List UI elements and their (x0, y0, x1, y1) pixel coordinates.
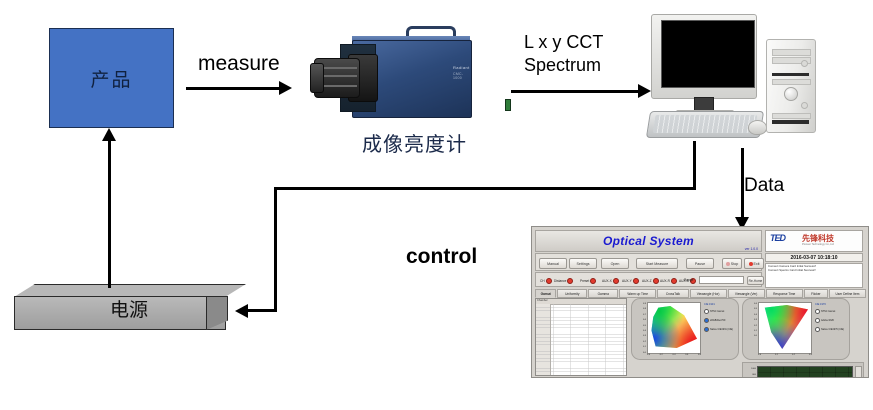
tab-gamut[interactable]: Gamut (535, 289, 556, 298)
software-titlebar: Optical System ver 1.0.0 (535, 230, 762, 252)
status-ch-label: CH (540, 279, 545, 283)
led-icon (653, 278, 659, 284)
manual-button[interactable]: Manual (539, 258, 567, 269)
legend-item[interactable]: Native CIE1931 (CIE) (704, 327, 737, 332)
tab-flicker[interactable]: Flicker (804, 289, 828, 298)
workflow-diagram: 产品 measure Radiant CMC-1000 成像亮度计 L x y … (0, 0, 873, 410)
control-line-h1 (274, 187, 696, 190)
spectrum-plot[interactable] (757, 366, 853, 378)
spectrum-panel: 1000800 600400 2000 380430 480530 580630… (742, 362, 864, 378)
signal-arrow-shaft (511, 90, 639, 93)
software-version: ver 1.0.0 (745, 247, 758, 251)
tab-user-define-item[interactable]: User Define Item (829, 289, 866, 298)
tab-viewangle-ver[interactable]: Viewangle (Ver) (728, 289, 765, 298)
status-ch: CH (540, 278, 552, 284)
power-supply-label: 电源 (110, 295, 148, 322)
camera-lens-hood (310, 63, 324, 93)
status-distance: Distance (554, 278, 573, 284)
open-button[interactable]: Open (601, 258, 629, 269)
legend-item[interactable]: NTSC Gamut (815, 309, 848, 314)
led-icon (613, 278, 619, 284)
exit-icon (749, 262, 753, 266)
radio-icon (704, 318, 709, 323)
power-arrow-shaft (108, 140, 111, 288)
cie1931-legend: CIE 1931 NTSC Gamut sRGB/Rec709 Native C… (704, 303, 737, 357)
cie1976-title: CIE 1976 (815, 303, 848, 306)
tab-uniformity[interactable]: Uniformity (557, 289, 587, 298)
camera-model-label: CMC-1000 (453, 72, 471, 80)
measure-arrow-label: measure (198, 52, 280, 76)
company-logo: TED 先锋科技 Pioneer Technology Co.,Ltd (765, 230, 863, 252)
control-arrow-head (235, 304, 248, 318)
control-line-v2 (274, 187, 277, 311)
status-preset-label: Preset (580, 279, 589, 283)
start-measure-button[interactable]: Start Measure (636, 258, 678, 269)
led-icon (590, 278, 596, 284)
software-title: Optical System (536, 234, 761, 248)
measure-arrow-head (279, 81, 292, 95)
led-icon (671, 278, 677, 284)
imaging-luminance-meter-image: Radiant CMC-1000 (310, 22, 470, 122)
cie1931-horseshoe (651, 306, 697, 348)
settings-button[interactable]: Settings (569, 258, 597, 269)
cie1976-panel: 0.60.5 0.40.3 0.20.1 0.0 0.00.1 0.20.3 C… (742, 298, 850, 360)
status-aux-z-label: AUX-Z (642, 279, 652, 283)
pc-tower (766, 39, 816, 133)
logo-tagline: Pioneer Technology Co.,Ltd (802, 243, 834, 246)
measurement-table[interactable]: Chamber (535, 298, 627, 376)
software-statusbar: CH Distance Preset AUX-X AUX-Y AUX-Z AUX… (535, 272, 762, 287)
signal-label: L x y CCT Spectrum (524, 31, 603, 77)
cie1976-legend: CIE 1976 NTSC Gamut Adobe RGB Native CIE… (815, 303, 848, 357)
spectrum-y-axis: 1000800 600400 2000 (744, 366, 756, 378)
status-aux-z: AUX-Z (642, 278, 659, 284)
cie1931-panel: 0.90.8 0.70.6 0.50.4 0.30.2 0.10.0 0.00.… (631, 298, 739, 360)
legend-item[interactable]: Native CIE1976 (CIE) (815, 327, 848, 332)
legend-item[interactable]: sRGB/Rec709 (704, 318, 737, 323)
stop-icon (726, 262, 730, 266)
led-icon (633, 278, 639, 284)
software-screenshot: Optical System ver 1.0.0 TED 先锋科技 Pionee… (531, 226, 869, 378)
radio-icon (815, 318, 820, 323)
status-preset: Preset (580, 278, 596, 284)
radio-icon (815, 309, 820, 314)
cie1976-horseshoe (762, 305, 808, 349)
exit-button[interactable]: Exit (744, 258, 764, 269)
camera-caption: 成像亮度计 (362, 128, 467, 157)
software-content: Chamber 0.90.8 0.70.6 0.50.4 0.30.2 0.10… (535, 298, 866, 376)
cie1931-y-axis: 0.90.8 0.70.6 0.50.4 0.30.2 0.10.0 (636, 302, 646, 356)
control-label: control (406, 245, 477, 269)
log-line: Connect Spectro Card Initial Success!! (768, 269, 860, 273)
table-row-index-column (536, 304, 551, 375)
stop-label: Stop (731, 262, 738, 266)
control-line-v1 (693, 141, 696, 190)
led-icon (567, 278, 573, 284)
stop-button[interactable]: Stop (722, 258, 742, 269)
status-aux-r: AUX-R (660, 278, 677, 284)
mouse (748, 120, 767, 135)
radio-icon (704, 309, 709, 314)
power-arrow-head (102, 128, 116, 141)
legend-item[interactable]: Adobe RGB (815, 318, 848, 323)
measure-arrow-shaft (186, 87, 280, 90)
exit-label: Exit (754, 262, 760, 266)
datetime-display: 2016-03-07 10:18:10 (765, 253, 863, 262)
camera-brand-label: Radiant (453, 65, 470, 70)
tab-crosstalk[interactable]: CrossTalk (657, 289, 688, 298)
status-aux-y: AUX-Y (622, 278, 639, 284)
status-aux-r-label: AUX-R (660, 279, 670, 283)
cie1976-y-axis: 0.60.5 0.40.3 0.20.1 0.0 (747, 302, 757, 356)
tab-response-time[interactable]: Response Time (766, 289, 803, 298)
cie1931-plot[interactable] (647, 302, 701, 354)
radio-icon (704, 327, 709, 332)
log-panel[interactable]: Connect Camera Card Initial Success!! Co… (765, 263, 863, 288)
status-aux-x: AUX-X (602, 278, 619, 284)
monitor (651, 14, 757, 99)
tab-gamma[interactable]: Gamma (588, 289, 618, 298)
tab-viewangle-hor[interactable]: Viewangle (Hor) (690, 289, 727, 298)
control-line-h2 (247, 309, 277, 312)
status-distance-label: Distance (554, 279, 566, 283)
cie1976-plot[interactable] (758, 302, 812, 354)
status-aux-y-label: AUX-Y (622, 279, 632, 283)
cie1976-x-axis: 0.00.1 0.20.3 (758, 354, 812, 356)
software-toolbar: Manual Settings Open Start Measure Pause… (535, 253, 762, 271)
software-tabbar: Gamut Uniformity Gamma Warm up Time Cros… (535, 289, 866, 298)
camera-power-led-icon (505, 99, 511, 111)
data-label: Data (744, 175, 784, 197)
pause-button[interactable]: Pause (686, 258, 714, 269)
product-box: 产品 (49, 28, 174, 128)
tab-warm-up-time[interactable]: Warm up Time (619, 289, 656, 298)
range-input[interactable] (699, 276, 744, 284)
computer-image (648, 14, 828, 142)
led-icon (546, 278, 552, 284)
radio-icon (815, 327, 820, 332)
range-label: Range (684, 278, 693, 282)
cie1931-title: CIE 1931 (704, 303, 737, 306)
spectrum-scrollbar[interactable] (855, 366, 862, 378)
rehome-button[interactable]: Re-Home (747, 276, 764, 285)
keyboard (646, 111, 764, 138)
product-label: 产品 (90, 65, 132, 92)
status-aux-x-label: AUX-X (602, 279, 612, 283)
logo-mark: TED (770, 233, 785, 243)
monitor-screen (661, 20, 755, 88)
cie1931-x-axis: 0.00.2 0.40.6 0.8 (647, 354, 701, 356)
legend-item[interactable]: NTSC Gamut (704, 309, 737, 314)
